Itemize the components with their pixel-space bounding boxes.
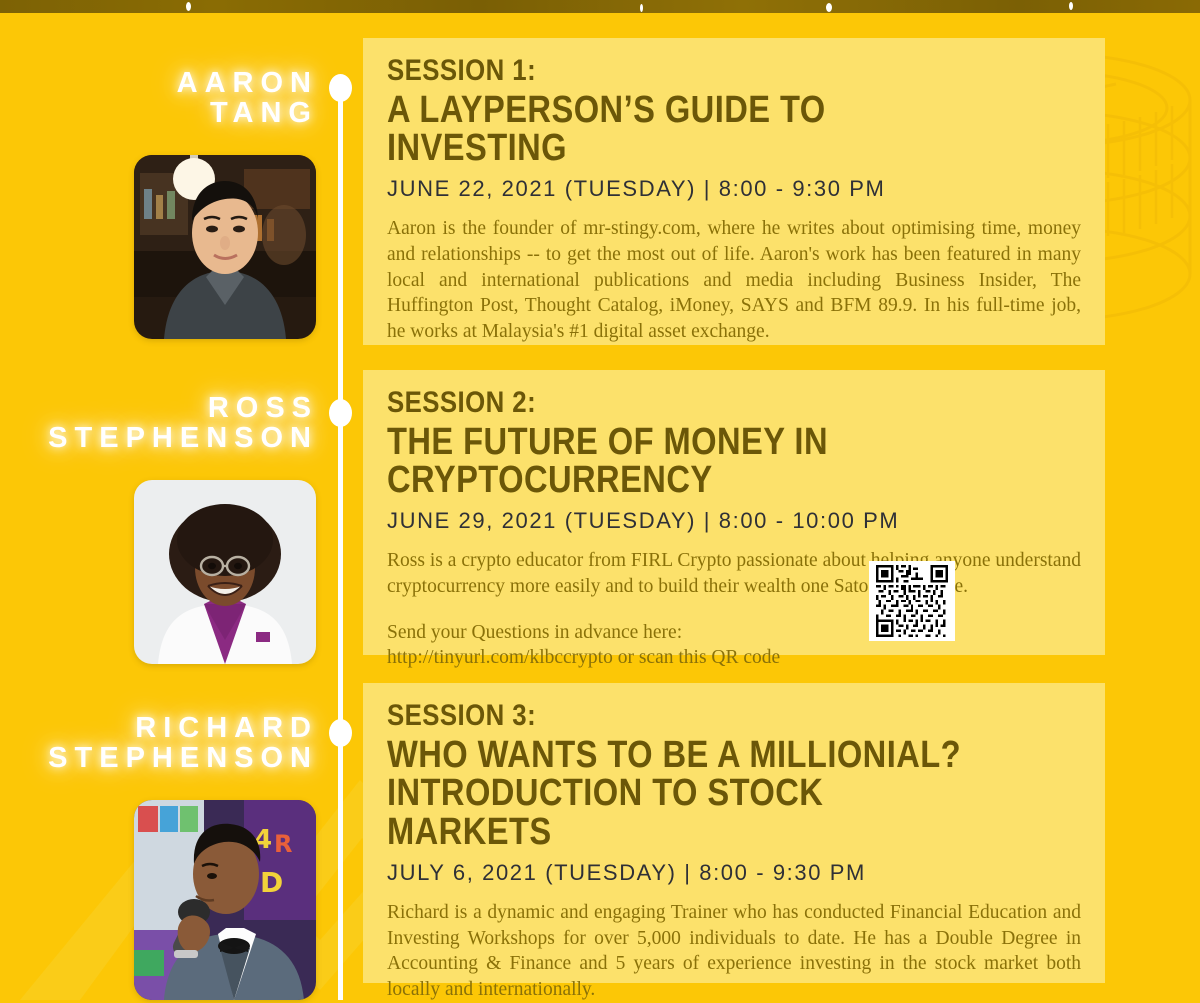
speaker-photo-1	[134, 155, 316, 339]
speaker-block-2: ROSS STEPHENSON	[0, 393, 330, 453]
speaker-name-1-last: TANG	[0, 98, 330, 128]
speck	[186, 2, 191, 11]
svg-text:D: D	[260, 866, 283, 899]
session-2-date: JUNE 29, 2021 (TUESDAY) | 8:00 - 10:00 P…	[387, 508, 1081, 534]
top-decorative-band	[0, 0, 1200, 13]
session-2-extra: Send your Questions in advance here: htt…	[387, 620, 1081, 671]
session-3-title-line-2: INTRODUCTION TO STOCK MARKETS	[387, 774, 984, 852]
session-3-title-line-1: WHO WANTS TO BE A MILLIONIAL?	[387, 736, 984, 775]
session-2-body: Ross is a crypto educator from FIRL Cryp…	[387, 548, 1081, 599]
timeline-dot-3	[329, 719, 352, 747]
session-3-body: Richard is a dynamic and engaging Traine…	[387, 900, 1081, 1003]
session-card-2: SESSION 2: THE FUTURE OF MONEY IN CRYPTO…	[363, 370, 1105, 655]
speaker-name-3-last: STEPHENSON	[0, 743, 330, 773]
session-2-questions-label: Send your Questions in advance here:	[387, 620, 1081, 646]
session-1-body: Aaron is the founder of mr-stingy.com, w…	[387, 216, 1081, 345]
session-2-questions-url[interactable]: http://tinyurl.com/klbccrypto or scan th…	[387, 645, 1081, 671]
speaker-photo-2	[134, 480, 316, 664]
speaker-name-2-first: ROSS	[0, 393, 330, 423]
session-1-date: JUNE 22, 2021 (TUESDAY) | 8:00 - 9:30 PM	[387, 176, 1081, 202]
timeline-line	[338, 80, 343, 1000]
session-2-kicker: SESSION 2:	[387, 388, 984, 419]
session-card-3: SESSION 3: WHO WANTS TO BE A MILLIONIAL?…	[363, 683, 1105, 983]
session-card-1: SESSION 1: A LAYPERSON’S GUIDE TO INVEST…	[363, 38, 1105, 345]
qr-code[interactable]	[869, 561, 955, 641]
speaker-name-3-first: RICHARD	[0, 713, 330, 743]
speck	[826, 3, 832, 12]
speck	[640, 4, 643, 12]
timeline-dot-1	[329, 74, 352, 102]
session-3-kicker: SESSION 3:	[387, 701, 984, 732]
session-3-date: JULY 6, 2021 (TUESDAY) | 8:00 - 9:30 PM	[387, 860, 1081, 886]
speaker-photo-3: 4 R D	[134, 800, 316, 1000]
session-1-title: A LAYPERSON’S GUIDE TO INVESTING	[387, 91, 984, 169]
session-2-title: THE FUTURE OF MONEY IN CRYPTOCURRENCY	[387, 423, 984, 501]
svg-text:R: R	[274, 830, 292, 858]
speaker-block-3: RICHARD STEPHENSON	[0, 713, 330, 773]
speaker-name-2-last: STEPHENSON	[0, 423, 330, 453]
speaker-block-1: AARON TANG	[0, 68, 330, 128]
session-1-kicker: SESSION 1:	[387, 56, 984, 87]
speck	[1069, 2, 1073, 10]
speaker-name-1-first: AARON	[0, 68, 330, 98]
timeline-dot-2	[329, 399, 352, 427]
